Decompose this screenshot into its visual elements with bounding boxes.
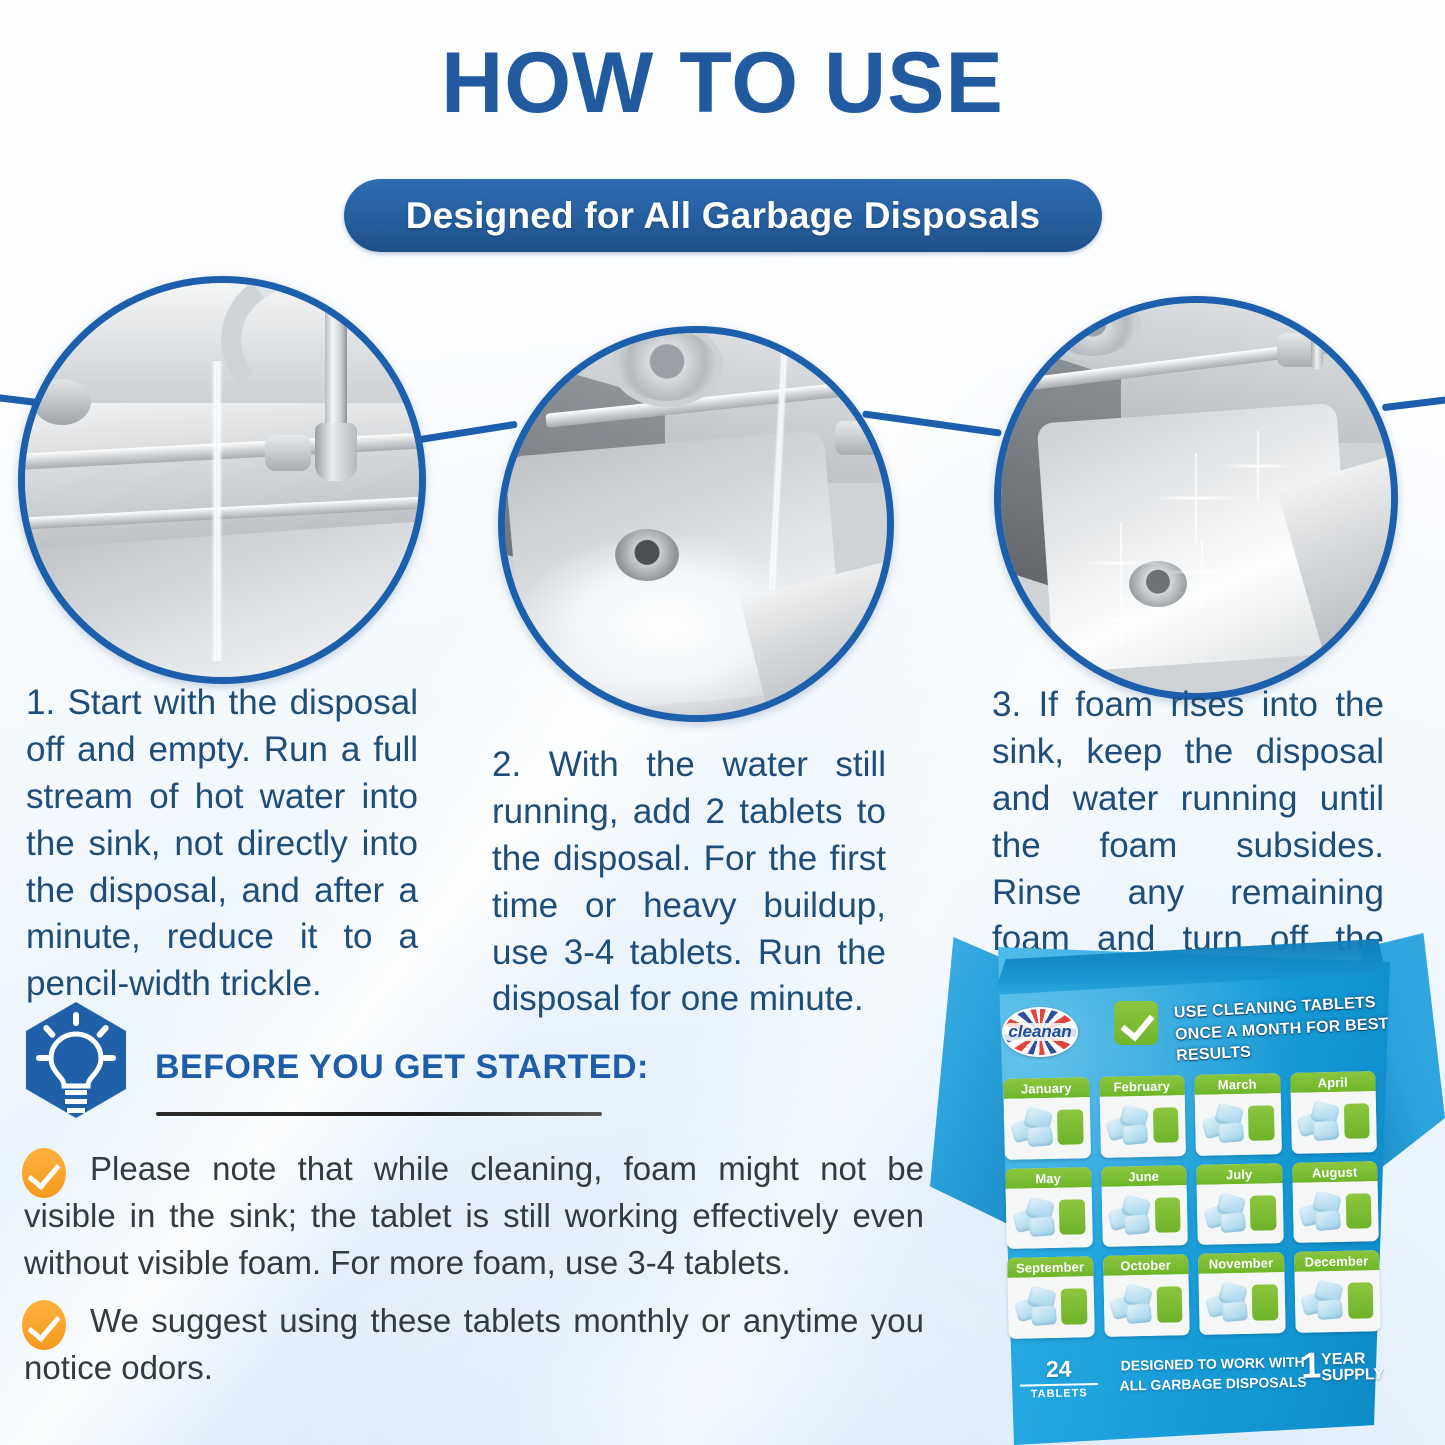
tablet-count: 24 TABLETS	[1020, 1357, 1099, 1401]
calendar-month-card: July	[1196, 1163, 1283, 1245]
step-1-photo	[18, 276, 426, 684]
calendar-month-card: March	[1194, 1073, 1281, 1155]
step-1-text: 1. Start with the disposal off and empty…	[26, 680, 418, 1008]
product-box: cleanan USE CLEANING TABLETS ONCE A MONT…	[930, 925, 1445, 1445]
tablet-icon	[1124, 1214, 1150, 1235]
calendar-month-card: January	[1003, 1077, 1090, 1159]
calendar-month-card: April	[1290, 1071, 1377, 1153]
calendar-month-body	[1197, 1183, 1284, 1245]
calendar-month-body	[1294, 1270, 1381, 1332]
calendar-grid: JanuaryFebruaryMarchAprilMayJuneJulyAugu…	[1003, 1071, 1380, 1339]
green-square-icon	[1343, 1103, 1369, 1139]
green-square-icon	[1345, 1193, 1371, 1229]
calendar-month-body	[1292, 1181, 1379, 1243]
tablets-image	[1204, 1192, 1249, 1235]
strainer-basket	[611, 326, 723, 407]
tablet-icon	[1313, 1120, 1339, 1141]
tablets-image	[1203, 1102, 1248, 1145]
lightbulb-icon	[22, 1000, 130, 1120]
green-square-icon	[1347, 1283, 1373, 1319]
tablet-icon	[1126, 1303, 1152, 1324]
step-2-text: 2. With the water still running, add 2 t…	[492, 742, 886, 1023]
calendar-month-label: May	[1005, 1167, 1091, 1189]
tablet-count-label: TABLETS	[1020, 1383, 1098, 1401]
tablets-image	[1300, 1190, 1345, 1233]
drain-fitting	[33, 379, 91, 425]
green-square-icon	[1252, 1285, 1278, 1321]
faucet-handle	[265, 435, 311, 471]
subtitle-banner-label: Designed for All Garbage Disposals	[406, 195, 1041, 237]
step-3-photo	[994, 296, 1398, 700]
calendar-month-body	[1195, 1093, 1282, 1155]
green-square-icon	[1154, 1197, 1180, 1233]
brand-logo-text: cleanan	[1004, 1023, 1075, 1042]
section-divider	[156, 1112, 602, 1116]
calendar-month-label: April	[1290, 1071, 1376, 1093]
tablet-icon	[1122, 1124, 1148, 1145]
supply-badge: 1 YEAR SUPPLY	[1301, 1349, 1384, 1385]
supply-word-label: SUPPLY	[1321, 1367, 1384, 1385]
sink-scene-3	[1001, 303, 1391, 693]
calendar-month-body	[1007, 1276, 1094, 1338]
green-square-icon	[1059, 1199, 1085, 1235]
tablet-icon	[1221, 1301, 1247, 1322]
page-title: HOW TO USE	[0, 34, 1445, 133]
green-square-icon	[1248, 1105, 1274, 1141]
step-2-photo	[498, 326, 894, 722]
calendar-month-label: October	[1103, 1254, 1189, 1276]
calendar-month-label: August	[1292, 1161, 1378, 1183]
faucet-column	[1311, 297, 1323, 369]
tablets-image	[1109, 1194, 1154, 1237]
calendar-month-card: August	[1292, 1161, 1379, 1243]
calendar-month-body	[1006, 1187, 1093, 1249]
box-footer-middle: DESIGNED TO WORK WITH ALL GARBAGE DISPOS…	[1117, 1353, 1308, 1396]
tablet-icon	[1028, 1216, 1054, 1237]
disposal-drain	[1129, 561, 1187, 607]
calendar-month-card: September	[1007, 1256, 1094, 1338]
box-headline: USE CLEANING TABLETS ONCE A MONTH FOR BE…	[1173, 991, 1391, 1067]
calendar-month-label: March	[1194, 1073, 1280, 1095]
green-square-icon	[1057, 1109, 1083, 1145]
tablets-image	[1302, 1280, 1347, 1323]
calendar-month-label: June	[1101, 1165, 1187, 1187]
calendar-month-body	[1101, 1185, 1188, 1247]
disposal-drain	[615, 529, 679, 581]
green-square-icon	[1061, 1289, 1087, 1325]
before-started-heading: BEFORE YOU GET STARTED:	[155, 1048, 649, 1087]
sink-scene-1	[25, 283, 419, 677]
calendar-month-label: January	[1003, 1077, 1089, 1099]
calendar-month-card: November	[1198, 1252, 1285, 1334]
faucet-handle	[835, 421, 879, 455]
tablet-icon	[1027, 1126, 1053, 1147]
tablet-icon	[1030, 1305, 1056, 1326]
tablet-icon	[1217, 1122, 1243, 1143]
tablets-image	[1111, 1284, 1156, 1327]
brand-logo: cleanan	[1002, 1007, 1078, 1057]
tablets-image	[1015, 1286, 1060, 1329]
green-square-icon	[1156, 1287, 1182, 1323]
tablets-image	[1107, 1104, 1152, 1147]
green-check-icon	[1114, 1001, 1158, 1045]
calendar-month-body	[1099, 1095, 1186, 1157]
infographic-page: HOW TO USE Designed for All Garbage Disp…	[0, 0, 1445, 1445]
green-square-icon	[1152, 1107, 1178, 1143]
subtitle-banner: Designed for All Garbage Disposals	[344, 179, 1102, 252]
tablets-image	[1298, 1100, 1343, 1143]
tablet-icon	[1315, 1210, 1341, 1231]
calendar-month-card: June	[1101, 1165, 1188, 1247]
calendar-month-card: May	[1005, 1167, 1092, 1249]
calendar-month-card: December	[1294, 1250, 1381, 1332]
calendar-month-label: November	[1198, 1252, 1284, 1274]
tablets-image	[1206, 1282, 1251, 1325]
box-footer: 24 TABLETS DESIGNED TO WORK WITH ALL GAR…	[999, 1345, 1390, 1415]
box-footer-line-2: ALL GARBAGE DISPOSALS	[1118, 1372, 1308, 1396]
calendar-month-body	[1004, 1097, 1091, 1159]
bullet-1-text: Please note that while cleaning, foam mi…	[24, 1146, 924, 1287]
tablet-icon	[1317, 1299, 1343, 1320]
calendar-month-body	[1198, 1272, 1285, 1334]
bullet-2-text: We suggest using these tablets monthly o…	[24, 1298, 924, 1392]
faucet-base	[315, 423, 357, 481]
green-square-icon	[1250, 1195, 1276, 1231]
calendar-month-label: December	[1294, 1250, 1380, 1272]
tablet-count-number: 24	[1020, 1357, 1098, 1382]
supply-number: 1	[1301, 1350, 1322, 1381]
calendar-month-label: September	[1007, 1256, 1093, 1278]
calendar-month-body	[1290, 1091, 1377, 1153]
tablets-image	[1013, 1196, 1058, 1239]
sink-scene-2	[505, 333, 887, 715]
connector-line-right	[1382, 396, 1445, 411]
calendar-month-body	[1103, 1274, 1190, 1336]
calendar-month-card: February	[1099, 1075, 1186, 1157]
calendar-month-label: February	[1099, 1075, 1185, 1097]
calendar-month-label: July	[1196, 1163, 1282, 1185]
water-stream	[211, 361, 223, 661]
tablets-image	[1012, 1106, 1057, 1149]
calendar-month-card: October	[1103, 1254, 1190, 1336]
tablet-icon	[1219, 1212, 1245, 1233]
